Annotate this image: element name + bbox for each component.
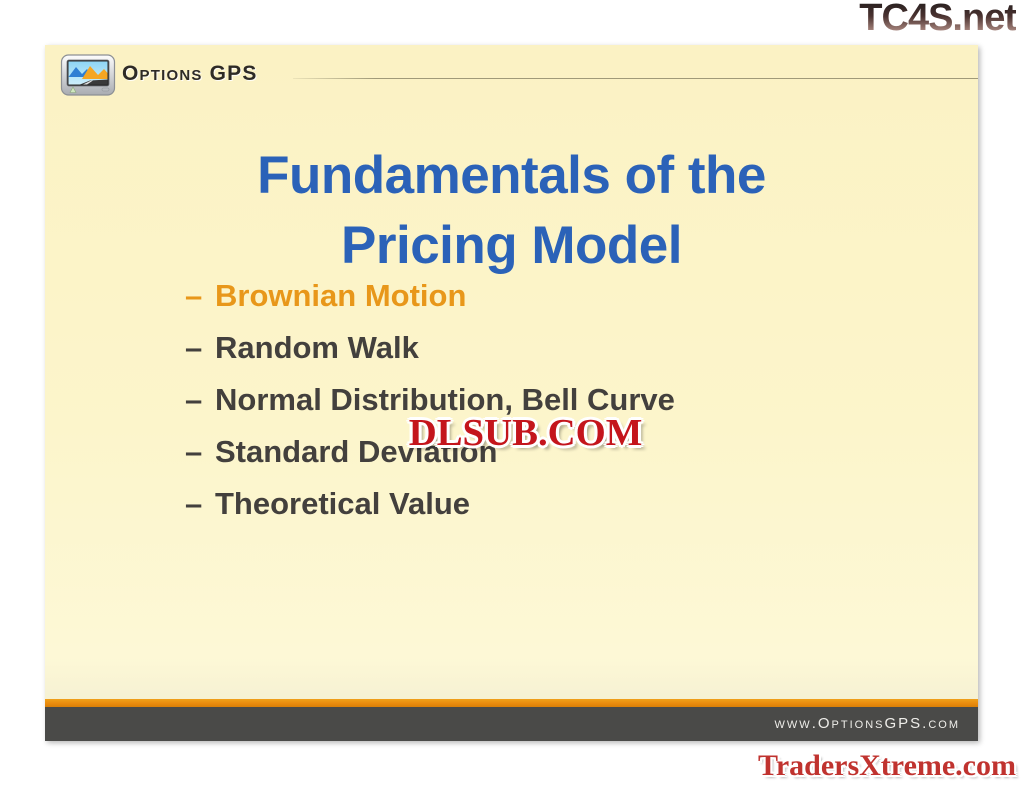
bullet-dash-icon: – bbox=[185, 330, 215, 366]
bullet-dash-icon: – bbox=[185, 434, 215, 470]
bullet-label: Theoretical Value bbox=[215, 486, 470, 522]
tc4s-watermark: TC4S.net bbox=[859, 0, 1016, 38]
bullet-list: – Brownian Motion – Random Walk – Normal… bbox=[185, 278, 925, 538]
bullet-item-brownian-motion: – Brownian Motion bbox=[185, 278, 925, 330]
bullet-dash-icon: – bbox=[185, 382, 215, 418]
bullet-dash-icon: – bbox=[185, 278, 215, 314]
slide-header: Options GPS bbox=[45, 45, 978, 101]
bullet-item-theoretical-value: – Theoretical Value bbox=[185, 486, 925, 538]
slide-footer-bar: www.OptionsGPS.com bbox=[45, 707, 978, 741]
dlsub-watermark: DLSUB.COM bbox=[409, 411, 643, 455]
brand-wordmark: Options GPS bbox=[122, 62, 258, 86]
slide-title-line-1: Fundamentals of the bbox=[45, 141, 978, 211]
footer-accent-stripe bbox=[45, 699, 978, 707]
bullet-label: Brownian Motion bbox=[215, 278, 466, 314]
footer-website-url: www.OptionsGPS.com bbox=[775, 715, 960, 732]
bullet-dash-icon: – bbox=[185, 486, 215, 522]
slide-title: Fundamentals of the Pricing Model bbox=[45, 141, 978, 281]
presentation-slide: Options GPS Fundamentals of the Pricing … bbox=[45, 45, 978, 741]
tradersxtreme-watermark: TradersXtreme.com bbox=[758, 749, 1016, 783]
gps-device-icon bbox=[60, 53, 116, 97]
bullet-label: Random Walk bbox=[215, 330, 419, 366]
slide-title-line-2: Pricing Model bbox=[45, 211, 978, 281]
bullet-item-random-walk: – Random Walk bbox=[185, 330, 925, 382]
header-divider-rule bbox=[293, 78, 978, 79]
